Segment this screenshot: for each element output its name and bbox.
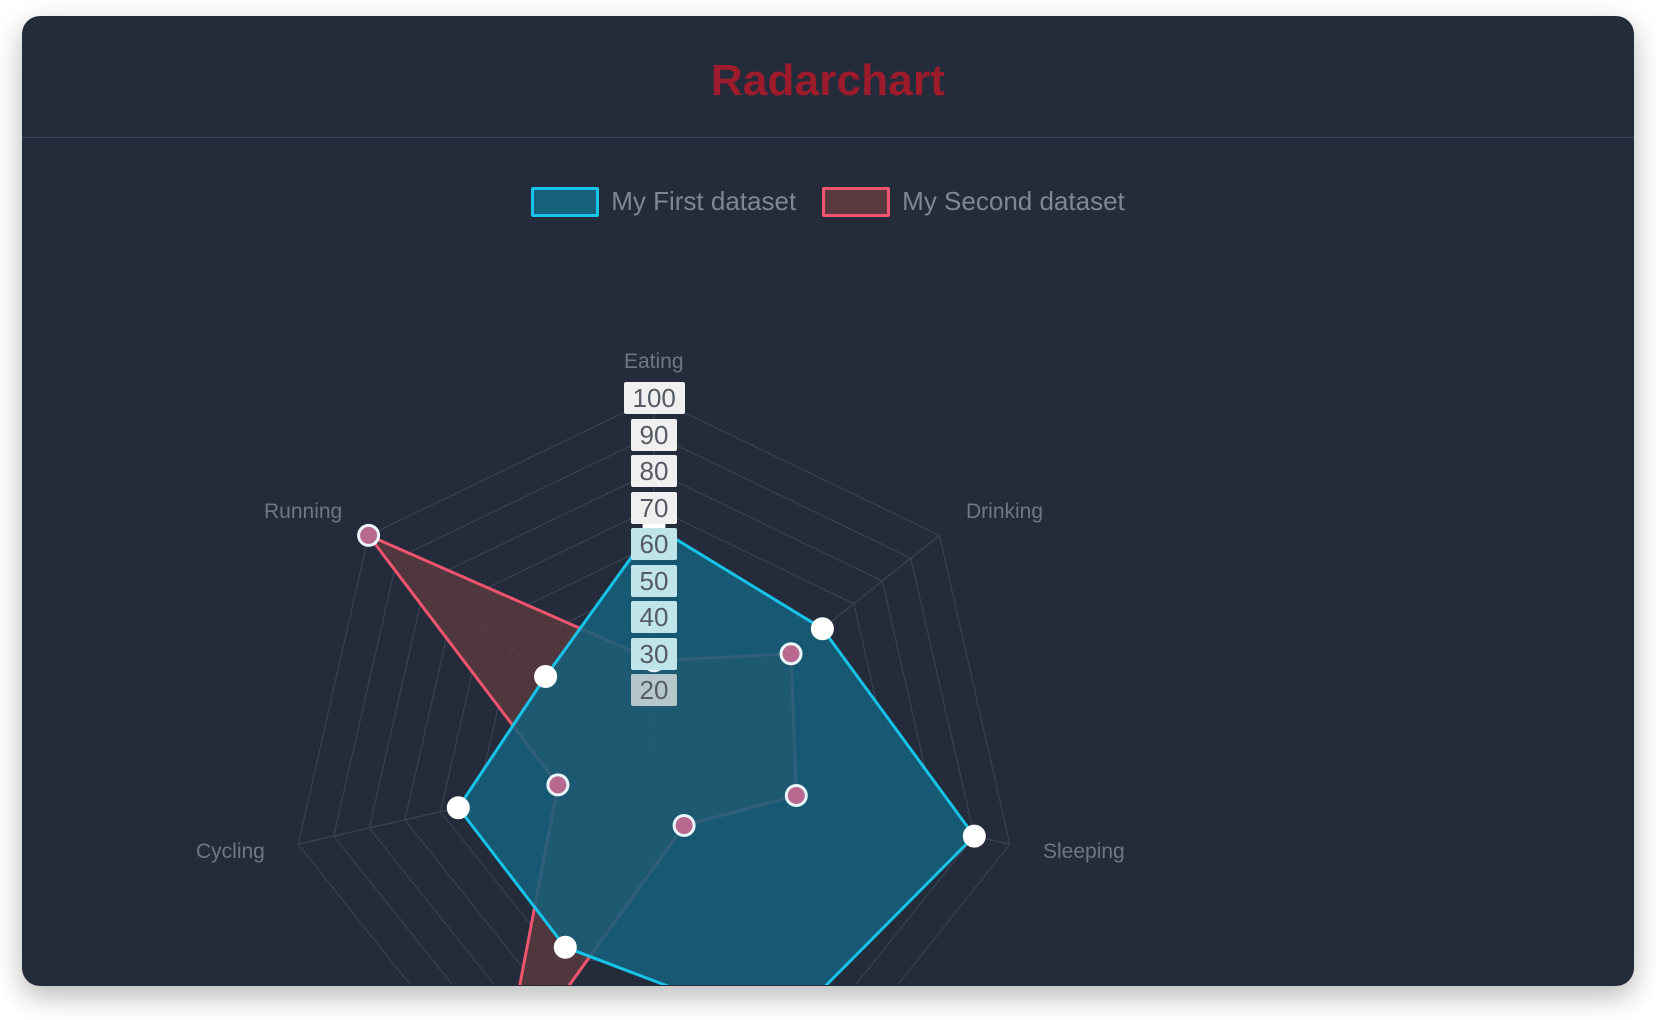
tick-label-40: 40 [631,601,678,633]
axis-label-cycling: Cycling [196,840,265,864]
axis-label-running: Running [264,500,342,524]
card-header: Radarchart [22,16,1634,138]
tick-label-100: 100 [624,382,685,414]
card-body: My First dataset My Second dataset Eatin… [22,138,1634,985]
tick-label-60: 60 [631,528,678,560]
tick-label-80: 80 [631,455,678,487]
axis-label-eating: Eating [624,350,684,374]
axis-label-drinking: Drinking [966,500,1043,524]
tick-label-90: 90 [631,419,678,451]
page-title: Radarchart [22,56,1634,106]
tick-label-20: 20 [631,674,678,706]
tick-label-50: 50 [631,565,678,597]
axis-label-sleeping: Sleeping [1043,840,1125,864]
tick-label-70: 70 [631,492,678,524]
radar-chart-card: Radarchart My First dataset My Second da… [22,16,1634,986]
tick-label-30: 30 [631,638,678,670]
page-root: Radarchart My First dataset My Second da… [0,0,1656,1020]
radar-chart-area[interactable]: EatingDrinkingSleepingDesigningCodingCyc… [22,138,1634,985]
